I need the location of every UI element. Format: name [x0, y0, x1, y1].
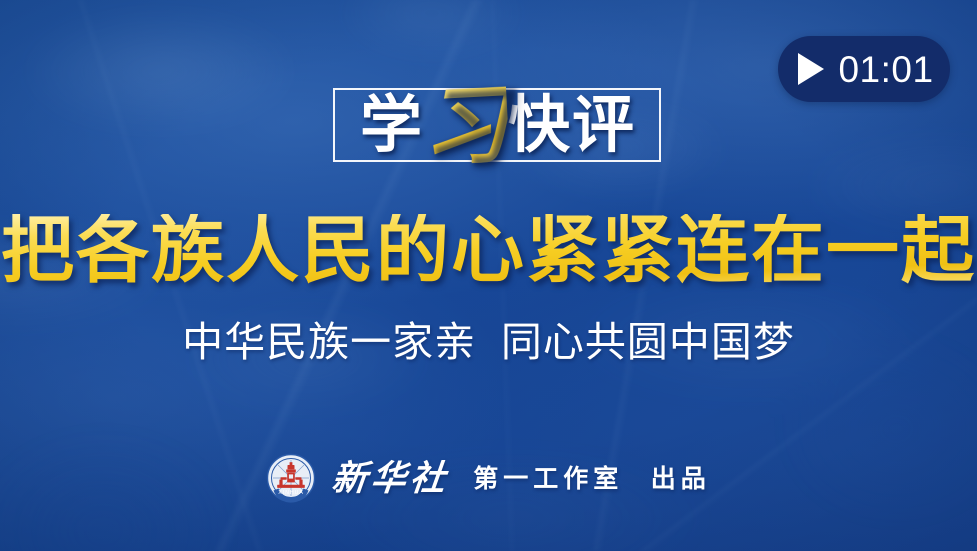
xinhua-emblem-icon: XINHUA	[266, 453, 316, 503]
program-title-char-4: 评	[572, 94, 634, 156]
xinhua-emblem-text: XINHUA	[278, 490, 304, 496]
subtitle-text: 中华民族一家亲 同心共圆中国梦	[0, 322, 977, 363]
headline-text: 把各族人民的心紧紧连在一起	[0, 214, 977, 287]
agency-name: 新华社	[330, 461, 451, 496]
studio-credit: 第一工作室 出品	[473, 466, 710, 491]
program-title-char-3: 快	[508, 94, 570, 156]
video-duration-badge[interactable]: 01:01	[778, 36, 950, 102]
video-duration-label: 01:01	[838, 51, 933, 88]
program-title: 学 习 快 评	[333, 72, 661, 178]
video-cover-slide: 01:01 学 习 快 评 把各族人民的心紧紧连在一起 中华民族一家亲 同心共圆…	[0, 0, 977, 551]
program-title-char-2-gold: 习	[420, 82, 510, 172]
play-triangle-icon	[798, 53, 824, 85]
producer-credit: XINHUA 新华社 第一工作室 出品	[0, 452, 977, 504]
program-title-char-1: 学	[360, 94, 422, 156]
